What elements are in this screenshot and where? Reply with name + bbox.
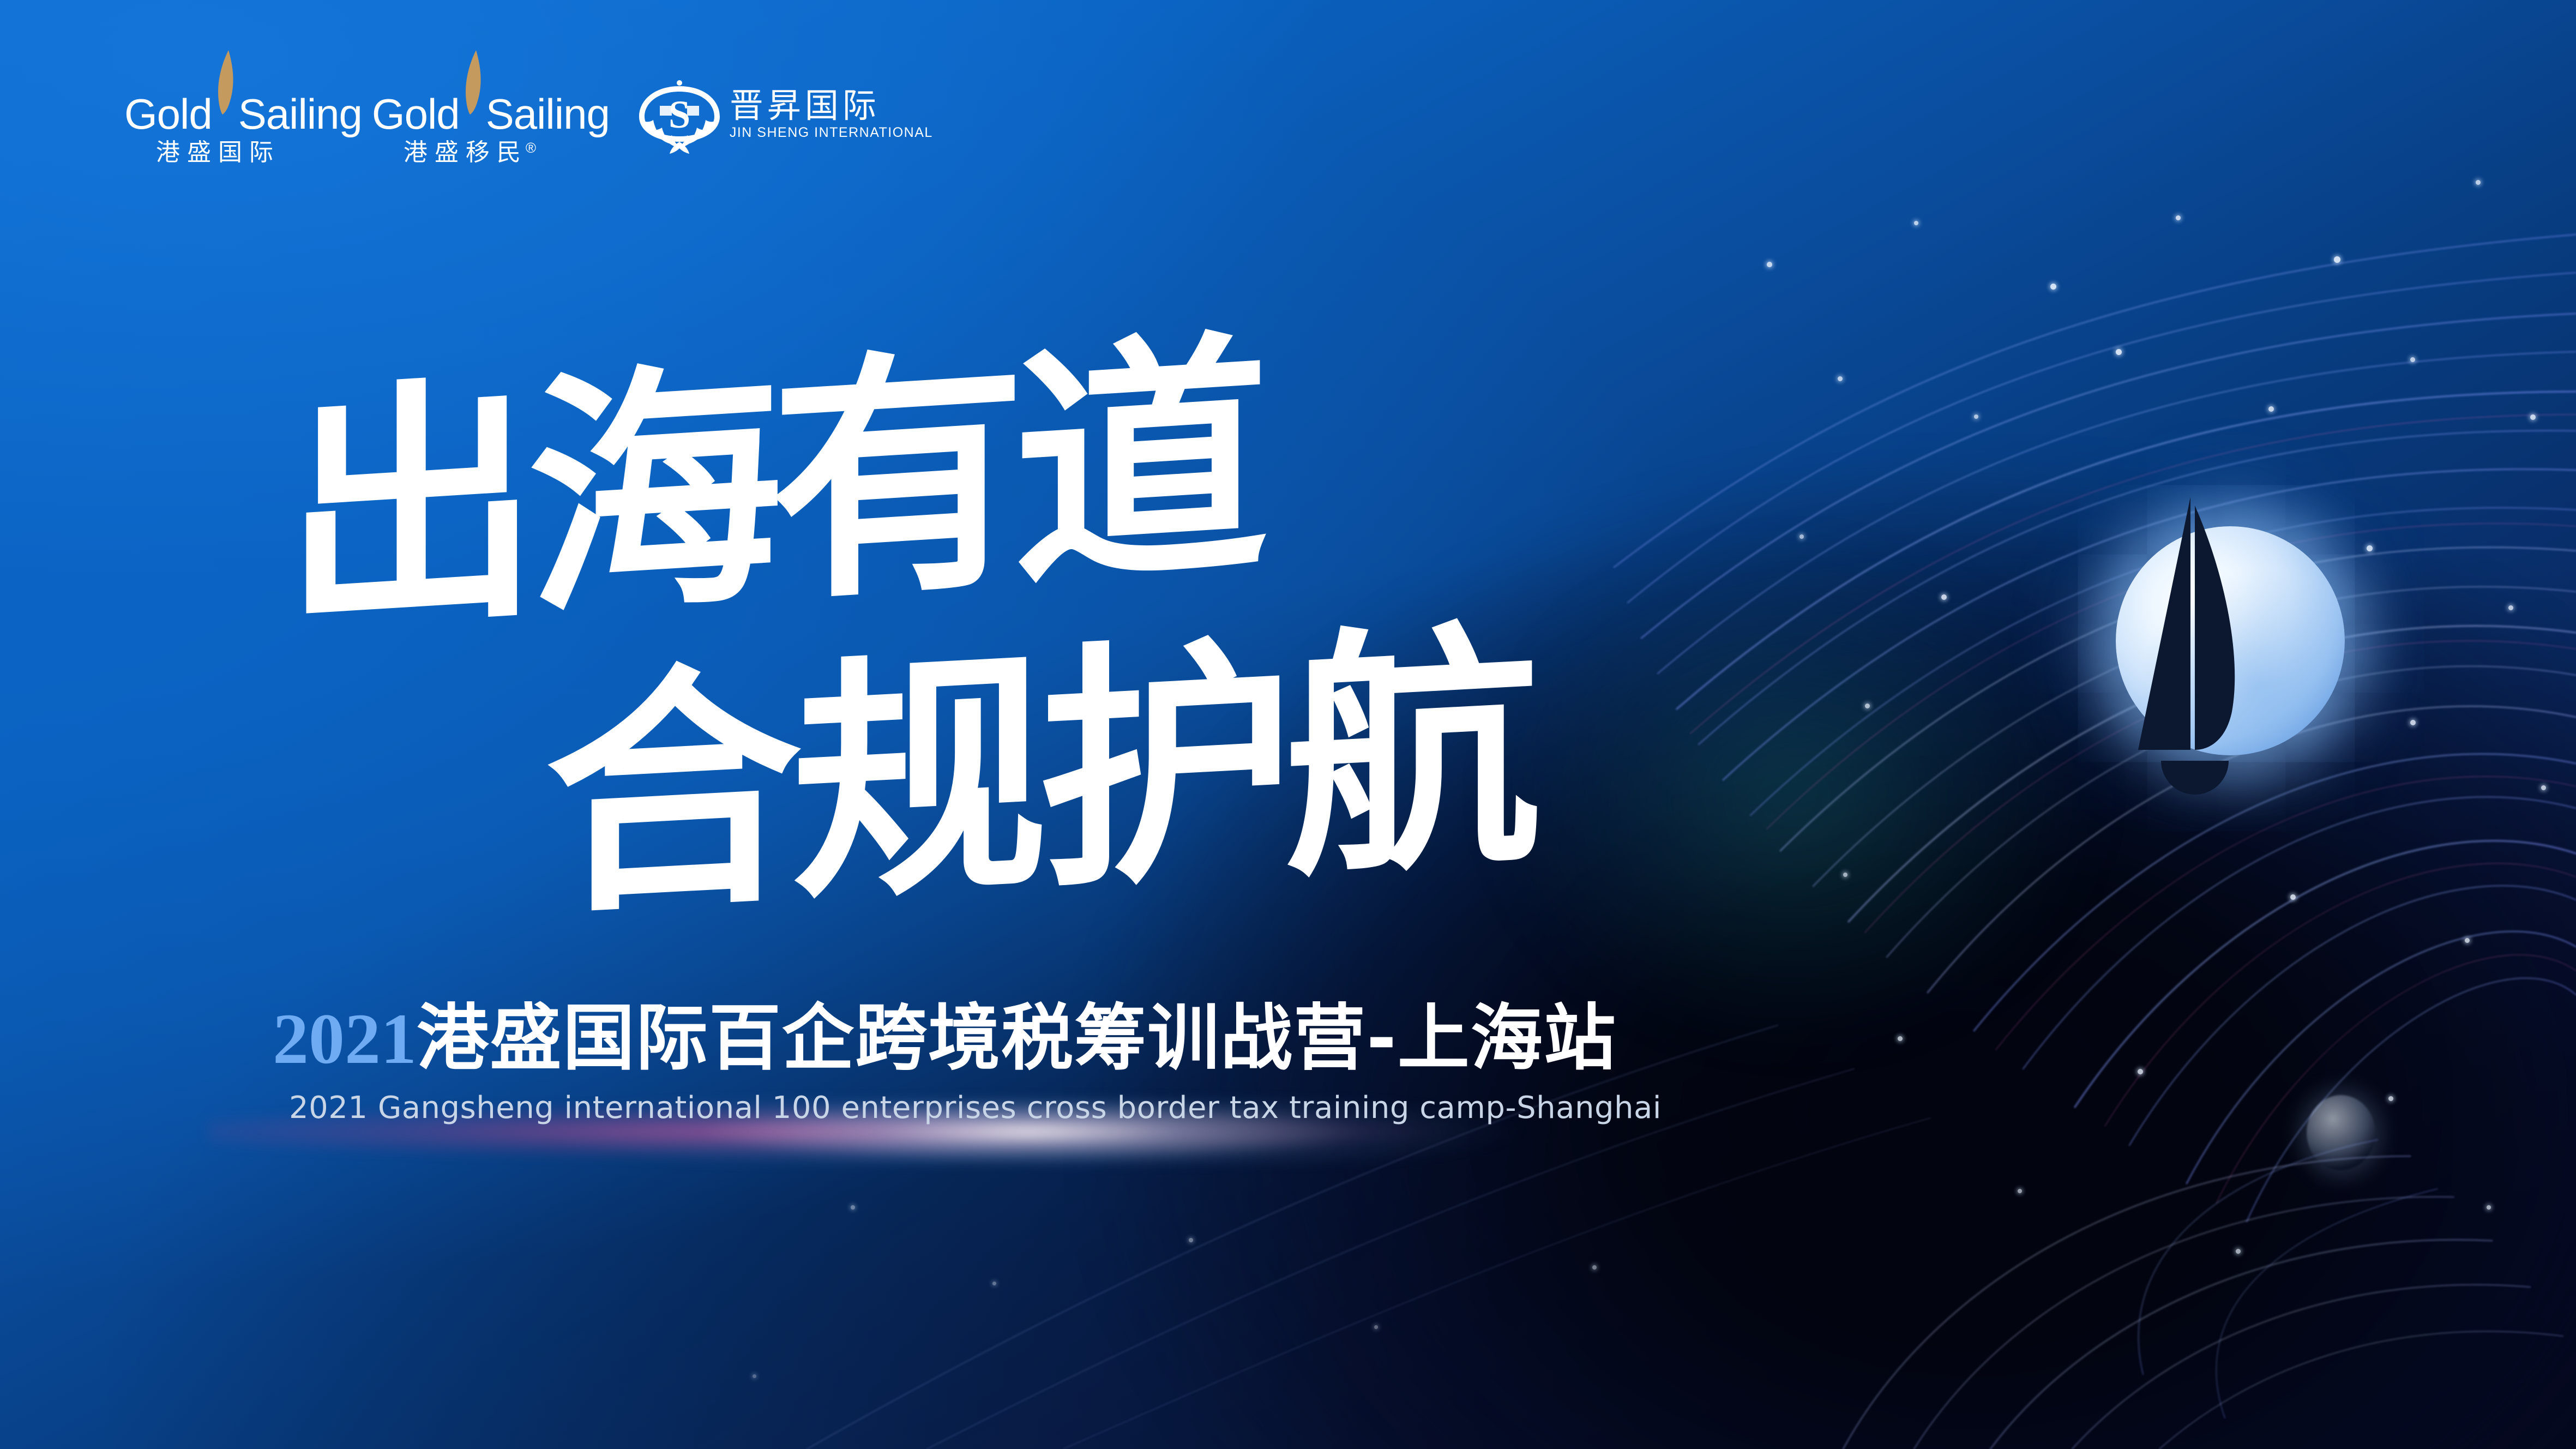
logo-bar: Gold Sailing 港盛国际 Gold Sailing 港盛移民 [124, 70, 933, 165]
logo-jin-sheng-international: S 晋昇国际 JIN SHENG INTERNATIONAL [638, 70, 933, 155]
logo2-chinese: 港盛移民 [404, 141, 528, 165]
subtitle-chinese-text: 港盛国际百企跨境税筹训战营-上海站 [417, 996, 1617, 1080]
svg-text:S: S [669, 93, 690, 136]
logo3-chinese: 晋昇国际 [730, 89, 933, 123]
headline-line-1: 出海有道 [284, 327, 1269, 666]
sail-mark-icon [212, 50, 237, 115]
registered-mark: ® [526, 141, 536, 155]
headline-calligraphy: 出海有道 合规护航 [284, 327, 1756, 982]
logo1-word-right: Sailing [238, 94, 362, 134]
logo-gold-sailing-international: Gold Sailing 港盛国际 [124, 70, 372, 165]
logo1-chinese: 港盛国际 [156, 141, 280, 165]
subtitle-year: 2021 [273, 999, 417, 1079]
logo2-word-left: Gold [372, 94, 460, 134]
logo2-word-right: Sailing [486, 94, 610, 134]
logo-gold-sailing-immigration: Gold Sailing 港盛移民 ® [372, 70, 619, 165]
promo-banner: Gold Sailing 港盛国际 Gold Sailing 港盛移民 [0, 0, 2576, 1449]
subtitle-chinese: 2021港盛国际百企跨境税筹训战营-上海站 [273, 1002, 1617, 1075]
subtitle-english: 2021 Gangsheng international 100 enterpr… [289, 1093, 1662, 1123]
logo1-word-left: Gold [124, 94, 212, 134]
headline-line-2: 合规护航 [545, 599, 1537, 949]
sail-mark-icon [460, 50, 485, 115]
sailboat-icon [2129, 494, 2271, 799]
jin-sheng-emblem-icon: S [638, 73, 721, 155]
bubble-orb-icon [2307, 1095, 2375, 1170]
logo3-english: JIN SHENG INTERNATIONAL [730, 126, 933, 140]
